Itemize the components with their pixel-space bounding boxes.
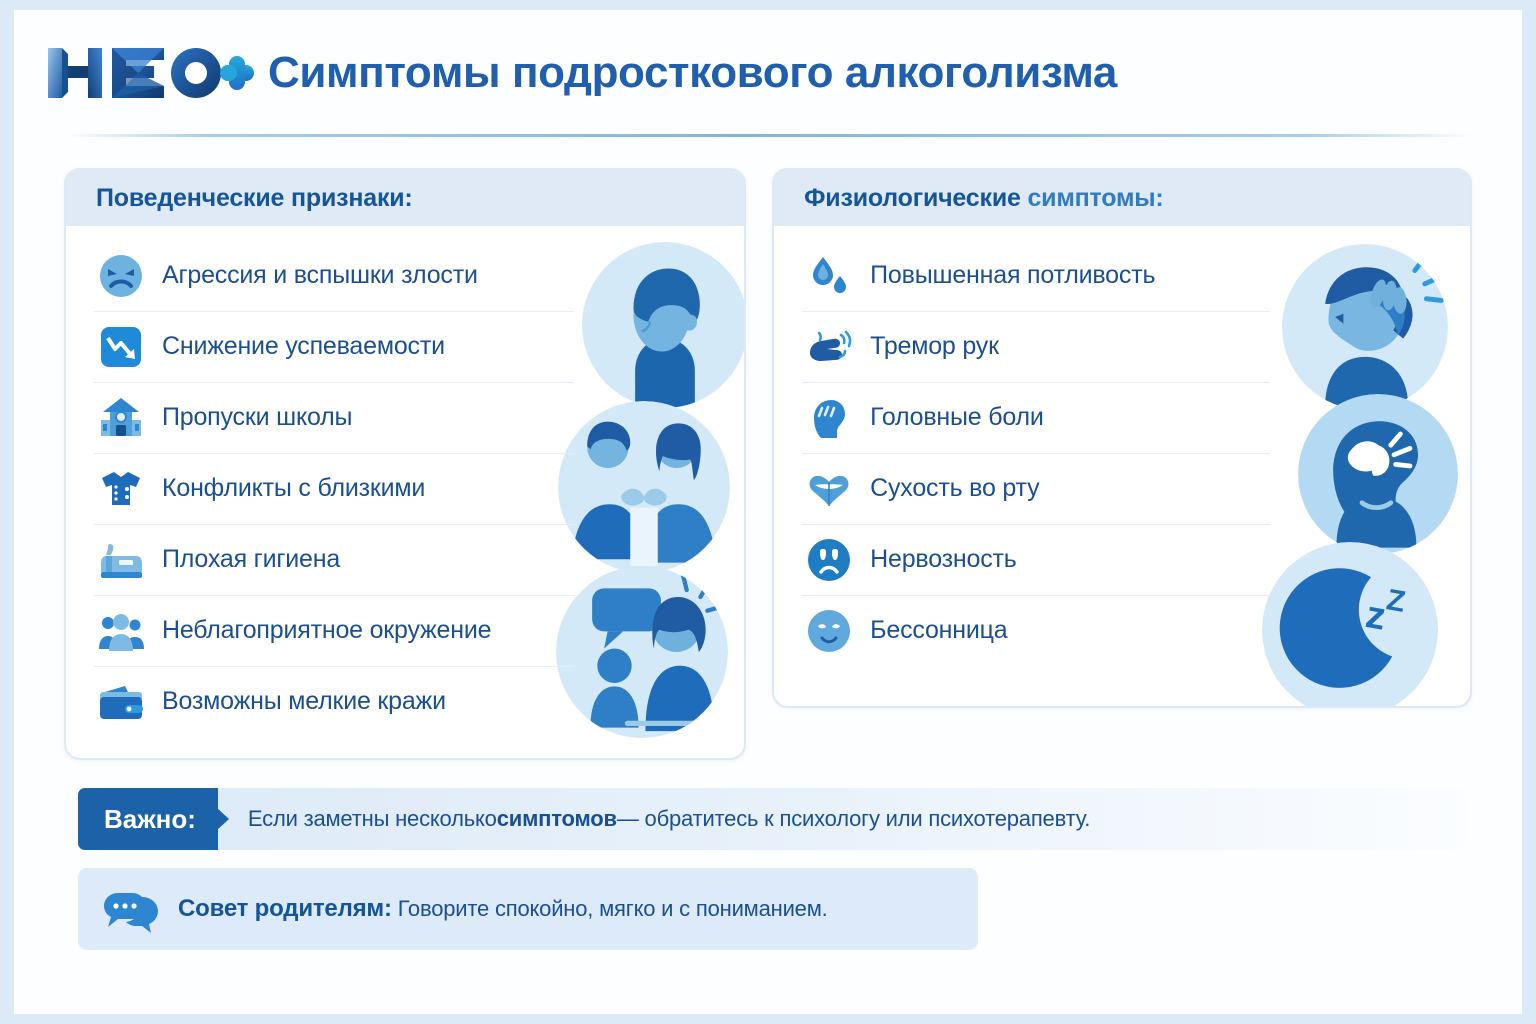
- sleepless-face-icon: [802, 604, 856, 658]
- list-item-label: Конфликты с близкими: [162, 474, 425, 503]
- panel-physiological-heading-bold: Физиологические: [804, 184, 1021, 212]
- important-text-before: Если заметны несколько: [248, 806, 497, 832]
- advice-banner: Совет родителям: Говорите спокойно, мягк…: [78, 868, 978, 950]
- important-tag: Важно:: [78, 788, 218, 850]
- panel-behavioral: Поведенческие признаки:: [64, 168, 746, 760]
- panels-container: Поведенческие признаки:: [14, 168, 1522, 760]
- header: Симптомы подросткового алкоголизма: [14, 10, 1522, 135]
- neo-plus-logo: [44, 40, 256, 106]
- head-pain-icon: [802, 391, 856, 445]
- list-item[interactable]: Агрессия и вспышки злости: [66, 240, 744, 311]
- important-text-bold: симптомов: [497, 806, 617, 832]
- list-item[interactable]: Головные боли: [774, 382, 1470, 453]
- list-item[interactable]: Возможны мелкие кражи: [66, 666, 744, 737]
- panel-behavioral-heading: Поведенческие признаки:: [66, 170, 744, 226]
- list-item-label: Плохая гигиена: [162, 545, 340, 574]
- panel-physiological-heading: Физиологические симптомы:: [774, 170, 1470, 226]
- physiological-items-list: Повышенная потливость: [774, 240, 1470, 666]
- list-item[interactable]: Бессонница: [774, 595, 1470, 666]
- grade-drop-icon: [94, 320, 148, 374]
- panel-physiological: Физиологические симптомы:: [772, 168, 1472, 708]
- list-item-label: Сухость во рту: [870, 474, 1039, 503]
- important-banner: Важно: Если заметны несколько симптомов …: [78, 788, 1466, 850]
- list-item-label: Возможны мелкие кражи: [162, 687, 446, 716]
- list-item-label: Пропуски школы: [162, 403, 352, 432]
- shaking-hand-icon: [802, 320, 856, 374]
- title-divider: [64, 134, 1476, 137]
- important-text-after: — обратитесь к психологу или психотерапе…: [617, 806, 1090, 832]
- panel-behavioral-body: Агрессия и вспышки злости Снижение успев…: [66, 226, 744, 747]
- list-item-label: Повышенная потливость: [870, 261, 1155, 290]
- worried-face-icon: [802, 533, 856, 587]
- list-item[interactable]: Нервозность: [774, 524, 1470, 595]
- tshirt-icon: [94, 462, 148, 516]
- advice-body: Говорите спокойно, мягко и с пониманием.: [392, 896, 828, 921]
- list-item[interactable]: Плохая гигиена: [66, 524, 744, 595]
- list-item[interactable]: Конфликты с близкими: [66, 453, 744, 524]
- school-icon: [94, 391, 148, 445]
- behavioral-items-list: Агрессия и вспышки злости Снижение успев…: [66, 240, 744, 737]
- panel-physiological-body: z Z Повышенная потливость: [774, 226, 1470, 676]
- angry-face-icon: [94, 249, 148, 303]
- important-text: Если заметны несколько симптомов — обрат…: [218, 788, 1090, 850]
- advice-text: Совет родителям: Говорите спокойно, мягк…: [178, 895, 828, 923]
- list-item[interactable]: Неблагоприятное окружение: [66, 595, 744, 666]
- infographic-page: Симптомы подросткового алкоголизма Повед…: [14, 10, 1522, 1014]
- sweat-drops-icon: [802, 249, 856, 303]
- list-item[interactable]: Тремор рук: [774, 311, 1470, 382]
- list-item[interactable]: Сухость во рту: [774, 453, 1470, 524]
- list-item-label: Нервозность: [870, 545, 1016, 574]
- page-title: Симптомы подросткового алкоголизма: [268, 48, 1117, 98]
- list-item[interactable]: Пропуски школы: [66, 382, 744, 453]
- list-item-label: Неблагоприятное окружение: [162, 616, 491, 645]
- list-item[interactable]: Повышенная потливость: [774, 240, 1470, 311]
- list-item-label: Головные боли: [870, 403, 1044, 432]
- lips-icon: [802, 462, 856, 516]
- hygiene-icon: [94, 533, 148, 587]
- group-people-icon: [94, 604, 148, 658]
- list-item-label: Агрессия и вспышки злости: [162, 261, 478, 290]
- list-item-label: Тремор рук: [870, 332, 999, 361]
- speech-bubble-icon: [102, 881, 162, 938]
- advice-label: Совет родителям:: [178, 895, 392, 922]
- list-item[interactable]: Снижение успеваемости: [66, 311, 744, 382]
- wallet-icon: [94, 675, 148, 729]
- panel-physiological-heading-light: симптомы:: [1027, 184, 1163, 212]
- list-item-label: Снижение успеваемости: [162, 332, 445, 361]
- panel-behavioral-heading-text: Поведенческие признаки:: [96, 184, 413, 212]
- list-item-label: Бессонница: [870, 616, 1007, 645]
